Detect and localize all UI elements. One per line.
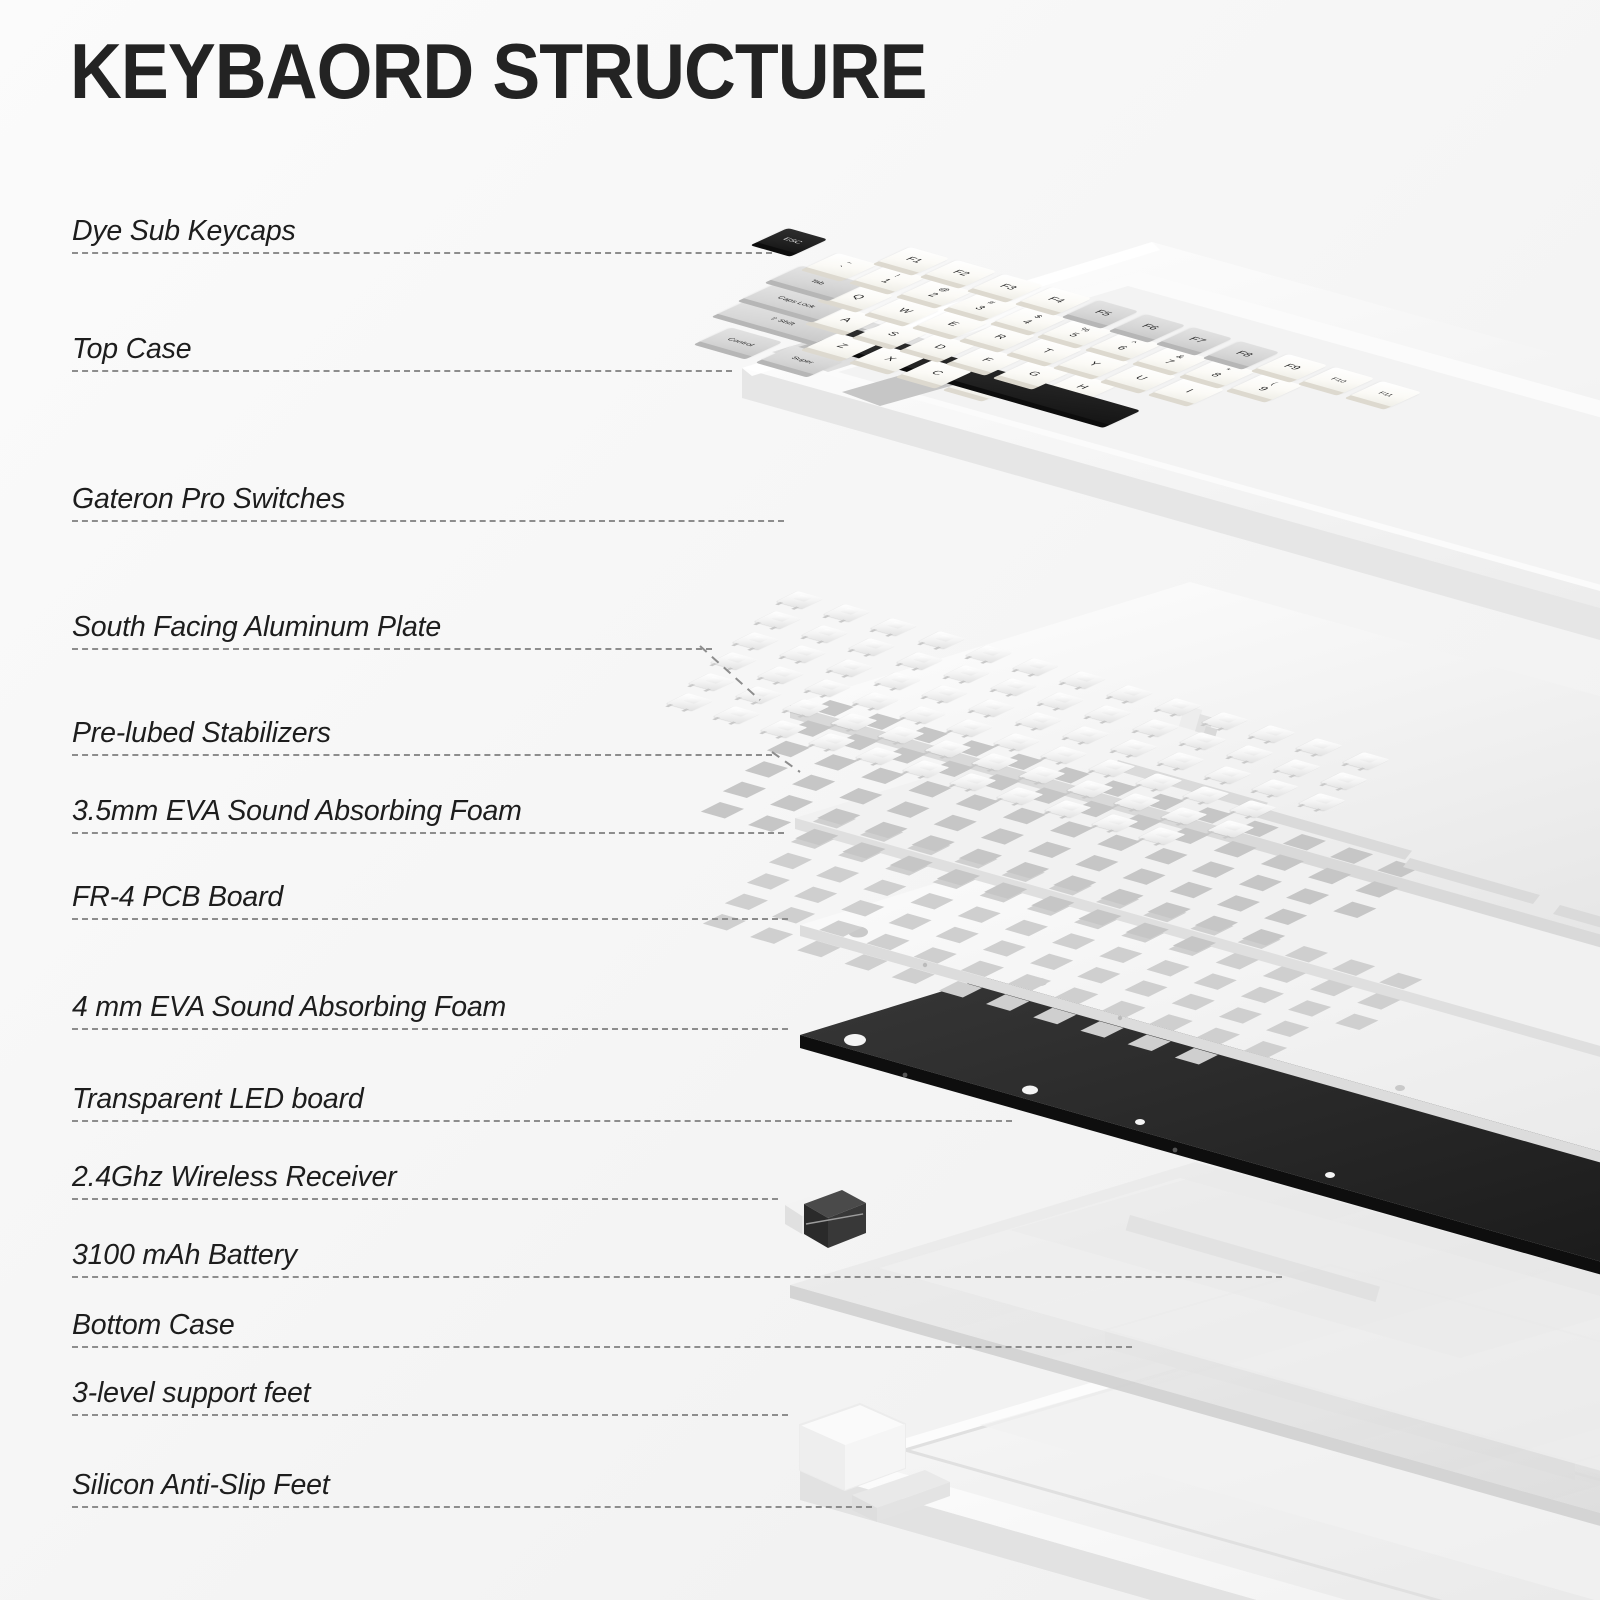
keycap-/: / [1231, 454, 1303, 480]
page-title: KEYBAORD STRUCTURE [70, 26, 927, 117]
callout-label-anti-slip-feet: Silicon Anti-Slip Feet [72, 1469, 330, 1502]
callout-leader-dye-sub-keycaps [72, 252, 772, 254]
keycap-alt: Alt [1122, 448, 1206, 477]
callout-leader-south-facing-aluminum-plate [72, 648, 712, 650]
callout-label-gateron-pro-switches: Gateron Pro Switches [72, 483, 345, 516]
keycap-.: . [1184, 440, 1256, 466]
callout-label-bottom-case: Bottom Case [72, 1309, 235, 1342]
callout-leader-eva-foam-35mm [72, 832, 784, 834]
callout-label-top-case: Top Case [72, 333, 191, 366]
callout-label-eva-foam-4mm: 4 mm EVA Sound Absorbing Foam [72, 991, 506, 1024]
callout-leader-transparent-led-board [72, 1120, 1012, 1122]
callout-leader-battery [72, 1276, 1282, 1278]
callout-label-south-facing-aluminum-plate: South Facing Aluminum Plate [72, 611, 441, 644]
keycap-;: ; [1234, 428, 1306, 454]
callout-leader-fr4-pcb-board [72, 918, 788, 920]
keycap-esc: ESC [756, 228, 828, 254]
callout-label-support-feet: 3-level support feet [72, 1377, 310, 1410]
callout-leader-bottom-case [72, 1346, 1132, 1348]
callout-label-transparent-led-board: Transparent LED board [72, 1083, 364, 1116]
callout-label-dye-sub-keycaps: Dye Sub Keycaps [72, 215, 296, 248]
callout-label-fr4-pcb-board: FR-4 PCB Board [72, 881, 283, 914]
poster-canvas: F1F2F3F4F5F6F7F8F9F10F11F12~`!1@2#3$4%5^… [0, 0, 1600, 1600]
keycap-l: L [1187, 414, 1259, 440]
keycap-p: P [1247, 405, 1319, 431]
keycap-k: K [1140, 401, 1212, 427]
keycap-,: , [1137, 427, 1209, 453]
callout-label-pre-lubed-stabilizers: Pre-lubed Stabilizers [72, 717, 331, 750]
callout-leader-anti-slip-feet [72, 1506, 872, 1508]
callout-label-battery: 3100 mAh Battery [72, 1239, 297, 1272]
callout-leader-gateron-pro-switches [72, 520, 784, 522]
callout-label-wireless-receiver: 2.4Ghz Wireless Receiver [72, 1161, 396, 1194]
callout-leader-support-feet [72, 1414, 788, 1416]
callout-leader-top-case [72, 370, 732, 372]
callout-label-eva-foam-35mm: 3.5mm EVA Sound Absorbing Foam [72, 795, 522, 828]
keycap-': ' [1282, 441, 1354, 467]
callout-leader-pre-lubed-stabilizers [72, 754, 772, 756]
keycap-]: ] [1341, 432, 1413, 458]
callout-leader-eva-foam-4mm [72, 1028, 788, 1030]
keycap-[: [ [1294, 418, 1366, 444]
callout-leader-wireless-receiver [72, 1198, 778, 1200]
keycap-=: += [1373, 414, 1445, 440]
